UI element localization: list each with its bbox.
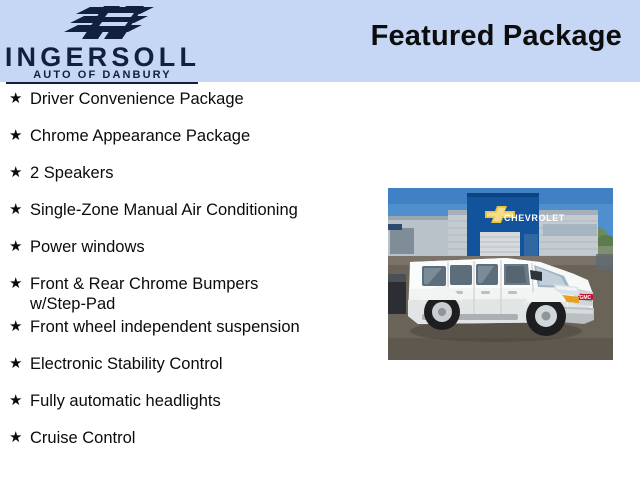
list-item: ★ Cruise Control — [0, 425, 380, 462]
list-item-label: Front wheel independent suspension — [30, 314, 380, 337]
star-bullet-icon: ★ — [9, 351, 30, 376]
list-item: ★ Front wheel independent suspension — [0, 314, 380, 351]
winged-stripes-emblem-icon — [48, 5, 168, 41]
list-item-label: Fully automatic headlights — [30, 388, 380, 411]
list-item: ★ Single-Zone Manual Air Conditioning — [0, 197, 380, 234]
dealership-sign-text: CHEVROLET — [504, 213, 565, 223]
page-header: INGERSOLL AUTO OF DANBURY Featured Packa… — [0, 0, 640, 82]
list-item-label: Chrome Appearance Package — [30, 123, 380, 146]
brand-tagline: AUTO OF DANBURY — [0, 70, 205, 81]
star-bullet-icon: ★ — [9, 388, 30, 413]
list-item-label: Front & Rear Chrome Bumpers w/Step-Pad — [30, 271, 380, 314]
list-item-label: Driver Convenience Package — [30, 86, 380, 109]
feature-list: ★ Driver Convenience Package ★ Chrome Ap… — [0, 86, 380, 462]
star-bullet-icon: ★ — [9, 197, 30, 222]
star-bullet-icon: ★ — [9, 314, 30, 339]
list-item: ★ Electronic Stability Control — [0, 351, 380, 388]
brand-divider — [6, 82, 198, 84]
star-bullet-icon: ★ — [9, 160, 30, 185]
list-item-label: Cruise Control — [30, 425, 380, 448]
page-title: Featured Package — [371, 22, 622, 51]
list-item: ★ Front & Rear Chrome Bumpers w/Step-Pad — [0, 271, 380, 314]
list-item: ★ Fully automatic headlights — [0, 388, 380, 425]
list-item-label: Single-Zone Manual Air Conditioning — [30, 197, 380, 220]
vehicle-badge-text: GMC — [580, 295, 592, 301]
brand-logo: INGERSOLL AUTO OF DANBURY — [0, 2, 205, 80]
list-item-label: Power windows — [30, 234, 380, 257]
list-item: ★ Chrome Appearance Package — [0, 123, 380, 160]
star-bullet-icon: ★ — [9, 86, 30, 111]
star-bullet-icon: ★ — [9, 123, 30, 148]
list-item-label: Electronic Stability Control — [30, 351, 380, 374]
list-item-label: 2 Speakers — [30, 160, 380, 183]
list-item: ★ Driver Convenience Package — [0, 86, 380, 123]
brand-name: INGERSOLL — [0, 44, 205, 71]
star-bullet-icon: ★ — [9, 234, 30, 259]
list-item: ★ 2 Speakers — [0, 160, 380, 197]
star-bullet-icon: ★ — [9, 425, 30, 450]
vehicle-photo: CHEVROLET — [388, 188, 613, 360]
list-item: ★ Power windows — [0, 234, 380, 271]
star-bullet-icon: ★ — [9, 271, 30, 296]
